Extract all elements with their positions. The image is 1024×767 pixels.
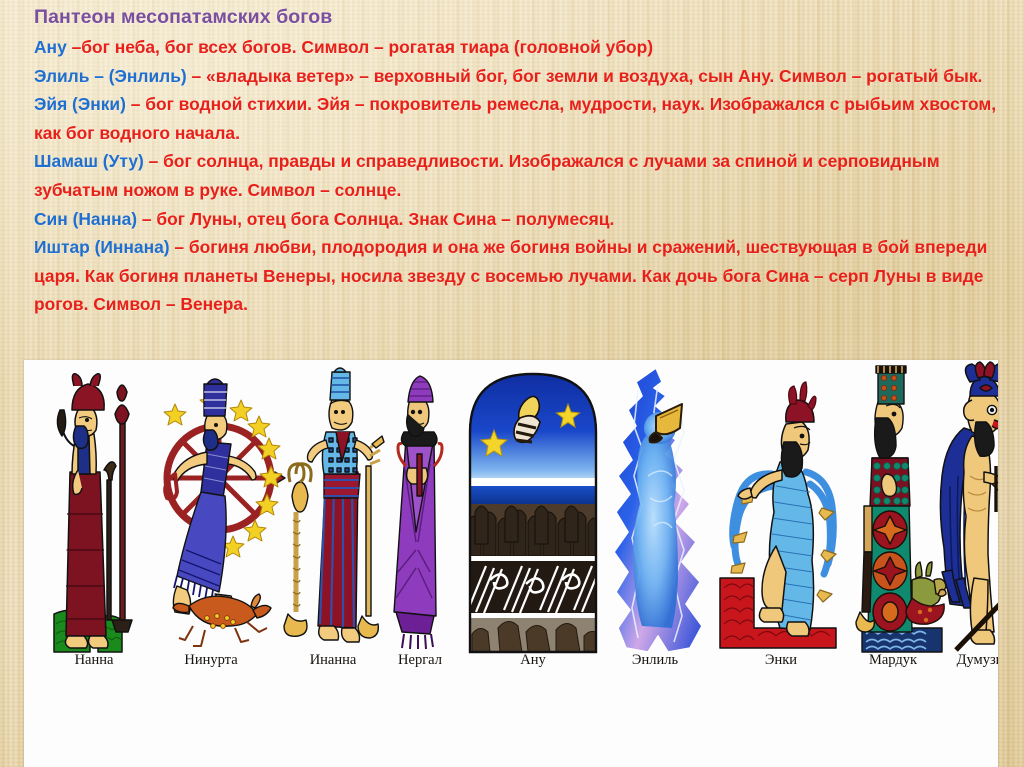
god-entry-sin: Син (Нанна) – бог Луны, отец бога Солнца… xyxy=(34,205,998,234)
caption-ninurta: Нинурта xyxy=(184,652,237,669)
caption-marduk: Мардук xyxy=(869,652,917,669)
figure-captions: Нанна Нинурта Инанна Нергал Ану Энлиль Э… xyxy=(24,652,998,692)
god-description-enlil: – «владыка ветер» – верховный бог, бог з… xyxy=(187,66,983,86)
figure-nergal xyxy=(386,372,454,652)
god-name-sin: Син (Нанна) xyxy=(34,209,137,229)
slide-background: Пантеон месопатамских богов Ану –бог неб… xyxy=(0,0,1024,767)
caption-nergal: Нергал xyxy=(398,652,442,669)
illustration-panel: Нанна Нинурта Инанна Нергал Ану Энлиль Э… xyxy=(24,360,998,767)
god-entry-anu: Ану –бог неба, бог всех богов. Символ – … xyxy=(34,33,998,62)
caption-dumuzi: Думузи xyxy=(957,652,998,669)
caption-nanna: Нанна xyxy=(75,652,114,669)
caption-anu: Ану xyxy=(520,652,545,669)
god-entry-ishtar: Иштар (Иннана) – богиня любви, плодороди… xyxy=(34,233,998,319)
figure-anu-stele xyxy=(464,366,602,652)
god-name-ishtar: Иштар (Иннана) xyxy=(34,237,170,257)
god-description-shamash: – бог солнца, правды и справедливости. И… xyxy=(34,151,940,200)
god-description-anu: –бог неба, бог всех богов. Символ – рога… xyxy=(67,37,653,57)
figure-enki xyxy=(714,366,844,652)
figure-inanna xyxy=(286,370,382,652)
god-name-enlil: Элиль – (Энлиль) xyxy=(34,66,187,86)
god-entry-enlil: Элиль – (Энлиль) – «владыка ветер» – вер… xyxy=(34,62,998,91)
page-title: Пантеон месопатамских богов xyxy=(34,6,998,29)
god-description-enki: – бог водной стихии. Эйя – покровитель р… xyxy=(34,94,996,143)
figures-row xyxy=(24,360,998,652)
caption-enlil: Энлиль xyxy=(632,652,678,669)
god-description-ishtar: – богиня любви, плодородия и она же боги… xyxy=(34,237,987,314)
god-name-anu: Ану xyxy=(34,37,67,57)
god-description-sin: – бог Луны, отец бога Солнца. Знак Сина … xyxy=(137,209,614,229)
figure-nanna xyxy=(48,374,143,652)
god-name-enki: Эйя (Энки) xyxy=(34,94,126,114)
figure-dumuzi xyxy=(936,366,998,652)
text-block: Пантеон месопатамских богов Ану –бог неб… xyxy=(34,6,998,319)
figure-ninurta xyxy=(149,370,284,652)
figure-marduk xyxy=(850,366,946,652)
god-entry-enki: Эйя (Энки) – бог водной стихии. Эйя – по… xyxy=(34,90,998,147)
figure-enlil xyxy=(604,366,714,652)
caption-inanna: Инанна xyxy=(310,652,357,669)
caption-enki: Энки xyxy=(765,652,797,669)
god-entry-shamash: Шамаш (Уту) – бог солнца, правды и справ… xyxy=(34,147,998,204)
god-name-shamash: Шамаш (Уту) xyxy=(34,151,144,171)
